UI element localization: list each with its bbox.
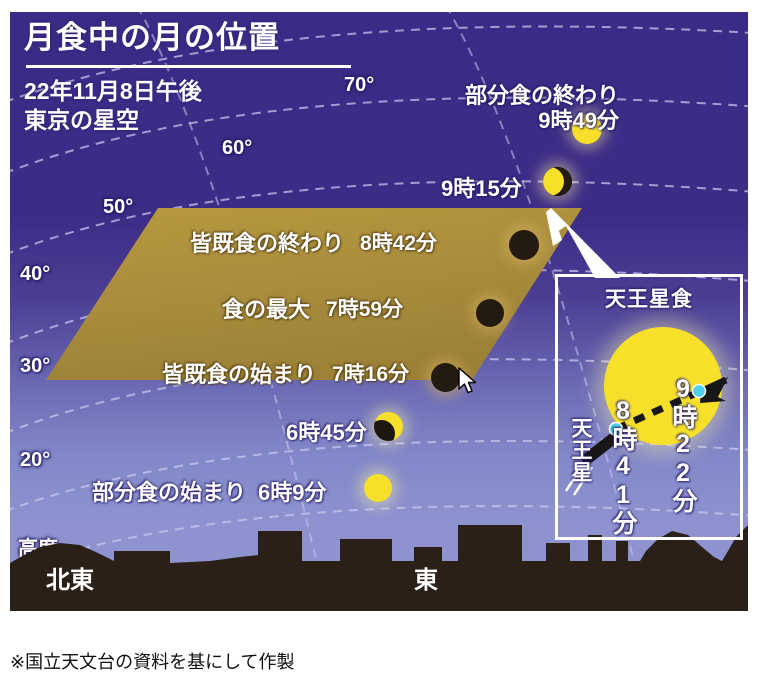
subtitle-line-1: 22年11月8日午後: [24, 77, 444, 106]
subtitle-line-2: 東京の星空: [24, 106, 444, 135]
moon-disc-eclipsed-2042: [509, 230, 539, 260]
altitude-label-30: 30°: [20, 355, 50, 378]
event-name-partial-start: 部分食の始まり: [92, 475, 246, 507]
altitude-label-40: 40°: [20, 263, 50, 286]
uranus-occultation-inset: 天王星食 天王星 8時41分: [555, 274, 743, 540]
event-time-2115: 9時15分: [441, 171, 522, 203]
event-name-partial-end: 部分食の終わり: [465, 84, 619, 109]
uranus-ingress-time: 8時41分: [610, 397, 635, 536]
event-label-2115: 9時15分: [441, 171, 522, 203]
moon-marker-2042: [509, 230, 539, 260]
moon-marker-2115: [543, 167, 572, 196]
event-label-partial-end: 部分食の終わり 9時49分: [465, 84, 619, 133]
sky-panel: 70° 60° 50° 40° 30° 20° 高度 10° 月食中の月の位置 …: [8, 10, 750, 613]
moon-marker-1845: [374, 412, 403, 441]
event-name-totality-end: 皆既食の終わり: [190, 226, 344, 258]
moon-disc-gibbous: [543, 167, 572, 196]
event-name-totality-start: 皆既食の始まり: [162, 357, 316, 389]
event-time-totality-end: 8時42分: [360, 227, 437, 257]
page-title: 月食中の月の位置: [24, 20, 444, 56]
event-time-partial-end: 9時49分: [538, 109, 619, 134]
uranus-track: [558, 277, 740, 537]
event-time-maximum: 7時59分: [326, 293, 403, 323]
moon-marker-1916: [431, 363, 460, 392]
event-label-totality-end: 皆既食の終わり 8時42分: [190, 226, 437, 258]
altitude-label-20: 20°: [20, 449, 50, 472]
source-footnote: ※国立天文台の資料を基にして作製: [10, 648, 295, 674]
event-time-totality-start: 7時16分: [332, 358, 409, 388]
direction-label-northeast: 北東: [46, 560, 94, 595]
event-label-1845: 6時45分: [286, 415, 367, 447]
event-label-totality-start: 皆既食の始まり 7時16分: [162, 357, 409, 389]
title-block: 月食中の月の位置 22年11月8日午後 東京の星空: [24, 20, 444, 136]
title-divider: [26, 65, 351, 68]
infographic-root: 70° 60° 50° 40° 30° 20° 高度 10° 月食中の月の位置 …: [0, 0, 758, 687]
moon-disc-full-1809: [364, 474, 392, 502]
moon-disc-eclipsed-1916: [431, 363, 460, 392]
altitude-label-60: 60°: [222, 137, 252, 160]
event-label-maximum: 食の最大 7時59分: [222, 292, 403, 324]
mouse-cursor: [458, 367, 480, 397]
altitude-label-50: 50°: [103, 196, 133, 219]
moon-lit-part: [543, 167, 564, 196]
direction-label-east: 東: [414, 560, 438, 595]
uranus-egress-time: 9時22分: [670, 375, 695, 514]
moon-disc-partial-1845: [374, 412, 403, 441]
event-time-partial-start: 6時9分: [258, 475, 326, 507]
event-name-maximum: 食の最大: [222, 292, 310, 324]
moon-marker-1959: [476, 299, 504, 327]
moon-disc-eclipsed-1959: [476, 299, 504, 327]
moon-marker-1809: [364, 474, 392, 502]
event-label-partial-start: 部分食の始まり 6時9分: [92, 475, 327, 507]
moon-shadow-part: [374, 420, 395, 441]
sky-background: 70° 60° 50° 40° 30° 20° 高度 10° 月食中の月の位置 …: [10, 12, 748, 611]
uranus-object-label: 天王星: [570, 417, 591, 483]
event-time-1845: 6時45分: [286, 415, 367, 447]
